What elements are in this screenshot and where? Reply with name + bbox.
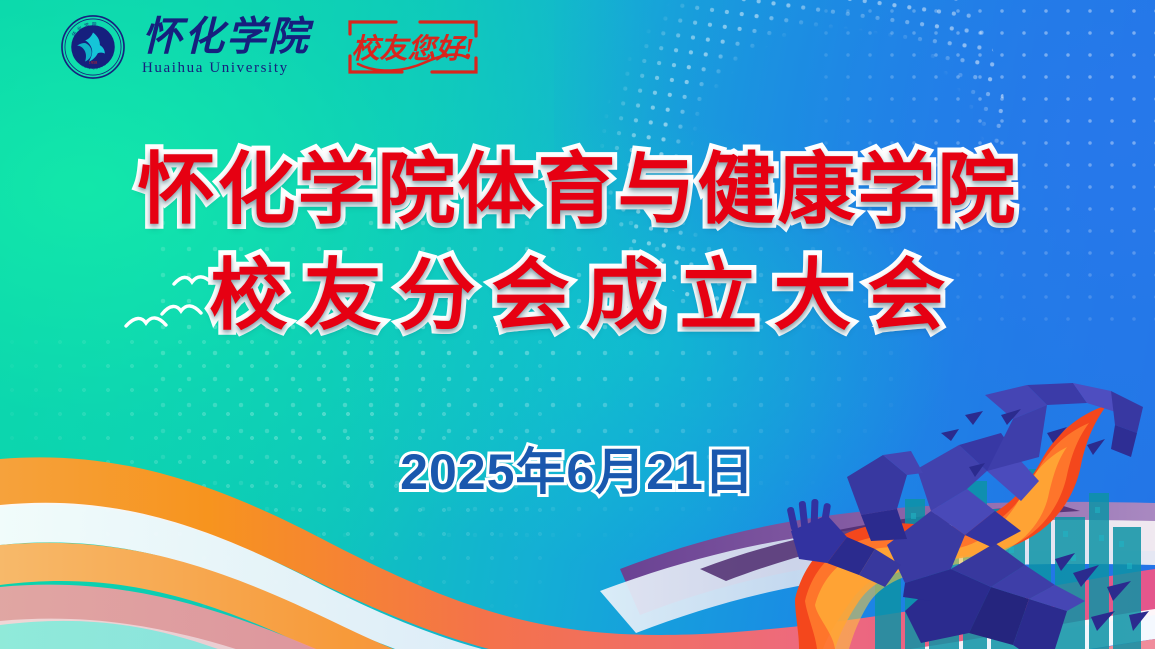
university-name-en: Huaihua University xyxy=(142,60,310,77)
brand-lockup: 怀 化 学 院 HUAIHUA UNIVERSITY 1958 怀化学院 Hua… xyxy=(60,14,486,80)
svg-text:1958: 1958 xyxy=(89,60,98,65)
alumni-greeting-stamp: 校友您好! xyxy=(340,14,486,80)
title-line-2: 校友分会成立大会 xyxy=(0,256,1155,334)
stamp-text: 校友您好! xyxy=(352,33,475,65)
poster-canvas: 怀 化 学 院 HUAIHUA UNIVERSITY 1958 怀化学院 Hua… xyxy=(0,0,1155,649)
title-block: 怀化学院体育与健康学院 校友分会成立大会 xyxy=(0,150,1155,334)
university-wordmark: 怀化学院 Huaihua University xyxy=(142,17,310,78)
event-date: 2025年6月21日 xyxy=(0,432,1155,504)
alumni-greeting-stamp-icon: 校友您好! xyxy=(340,14,486,80)
university-seal-icon: 怀 化 学 院 HUAIHUA UNIVERSITY 1958 xyxy=(60,14,126,80)
title-line-1: 怀化学院体育与健康学院 xyxy=(0,150,1155,228)
university-name-cn: 怀化学院 xyxy=(142,17,310,58)
